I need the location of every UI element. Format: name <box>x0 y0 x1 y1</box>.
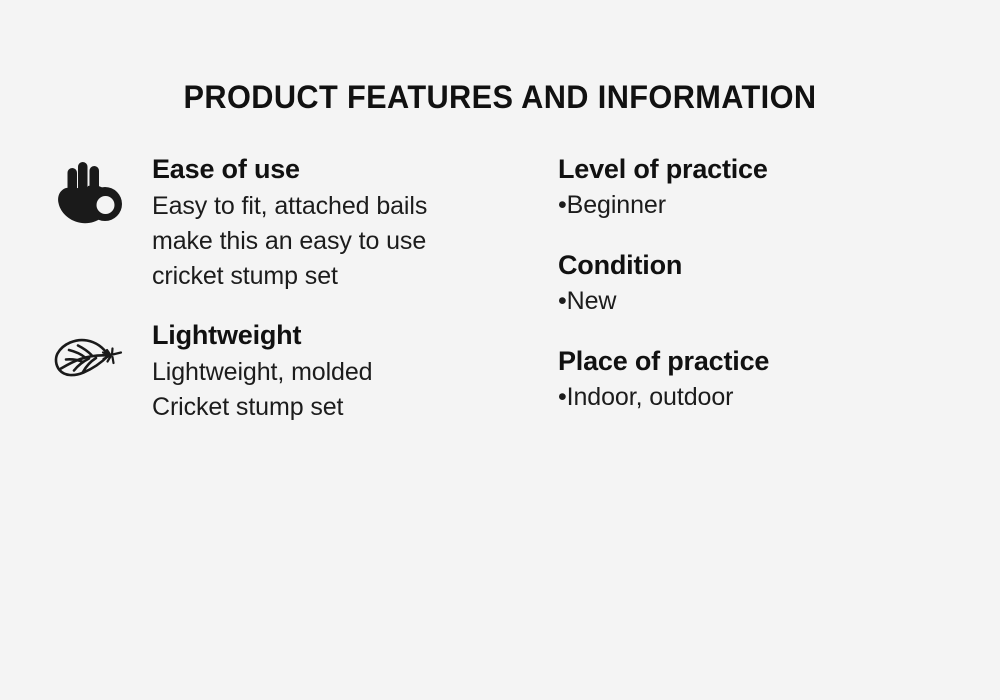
spec-list: •Indoor, outdoor <box>558 380 978 414</box>
spec-title: Level of practice <box>558 152 978 186</box>
feature-title: Lightweight <box>152 318 510 352</box>
spec-title: Place of practice <box>558 344 978 378</box>
spec-title: Condition <box>558 248 978 282</box>
page-title: PRODUCT FEATURES AND INFORMATION <box>20 77 980 117</box>
feature-description: Easy to fit, attached bails make this an… <box>152 189 452 294</box>
features-right-column: Level of practice •Beginner Condition •N… <box>558 152 978 414</box>
spec-value: New <box>567 287 617 315</box>
product-features-panel: PRODUCT FEATURES AND INFORMATION <box>0 0 1000 700</box>
feature-item-ease-of-use: Ease of use Easy to fit, attached bails … <box>40 152 510 294</box>
bullet-glyph: • <box>558 383 567 411</box>
bullet-glyph: • <box>558 191 567 219</box>
features-left-column: Ease of use Easy to fit, attached bails … <box>40 152 510 425</box>
list-item: •New <box>558 284 978 318</box>
ok-hand-icon <box>52 160 126 226</box>
spec-list: •Beginner <box>558 188 978 222</box>
feature-description: Lightweight, molded Cricket stump set <box>152 355 452 425</box>
feature-body: Lightweight Lightweight, molded Cricket … <box>152 318 510 425</box>
bullet-glyph: • <box>558 287 567 315</box>
spec-value: Indoor, outdoor <box>567 383 734 411</box>
spec-block-level-of-practice: Level of practice •Beginner <box>558 152 978 222</box>
feature-title: Ease of use <box>152 152 510 186</box>
spec-value: Beginner <box>567 191 666 219</box>
spec-block-condition: Condition •New <box>558 248 978 318</box>
spec-block-place-of-practice: Place of practice •Indoor, outdoor <box>558 344 978 414</box>
feature-item-lightweight: Lightweight Lightweight, molded Cricket … <box>40 318 510 425</box>
spec-list: •New <box>558 284 978 318</box>
list-item: •Beginner <box>558 188 978 222</box>
list-item: •Indoor, outdoor <box>558 380 978 414</box>
feature-body: Ease of use Easy to fit, attached bails … <box>152 152 510 294</box>
feather-icon <box>52 326 126 392</box>
